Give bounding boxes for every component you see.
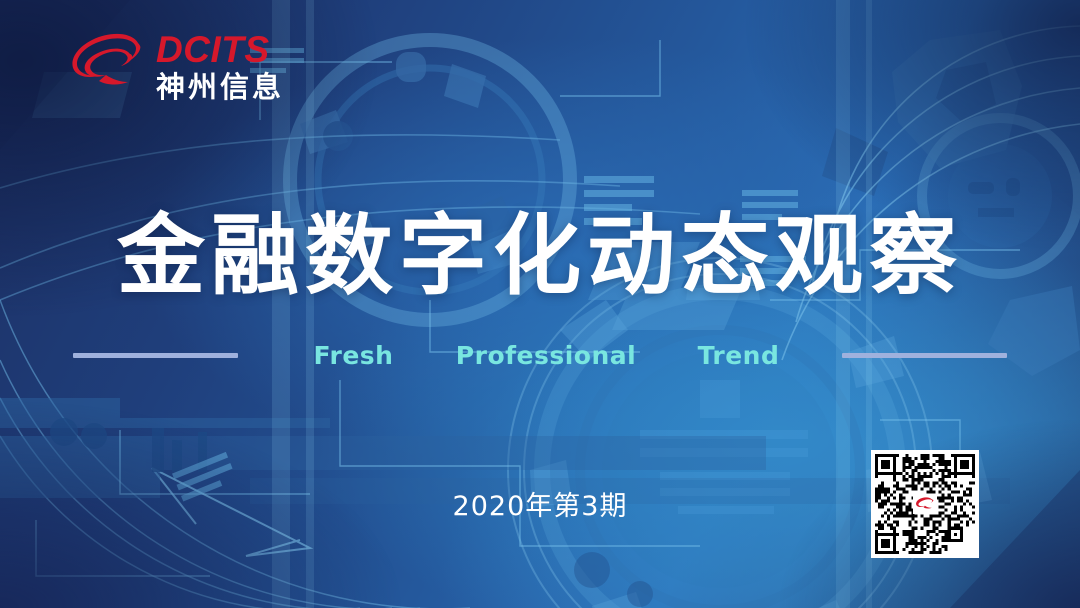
logo-wordmark: DCITS	[156, 31, 284, 68]
tagline-word-fresh: Fresh	[276, 341, 431, 370]
tagline-rule-right	[842, 353, 1007, 358]
title-slide: DCITS 神州信息 金融数字化动态观察 Fresh Professional …	[0, 0, 1080, 608]
qr-code[interactable]	[871, 450, 979, 558]
page-title: 金融数字化动态观察	[0, 185, 1080, 312]
qr-center-logo	[913, 494, 937, 514]
dcits-swirl-icon	[68, 30, 146, 102]
brand-logo: DCITS 神州信息	[68, 30, 284, 102]
tagline-word-professional: Professional	[431, 341, 661, 370]
tagline-word-trend: Trend	[661, 341, 816, 370]
logo-chinese-name: 神州信息	[156, 73, 284, 102]
tagline-rule-left	[73, 353, 238, 358]
tagline-words: Fresh Professional Trend	[276, 341, 816, 370]
tagline-row: Fresh Professional Trend	[0, 338, 1080, 372]
